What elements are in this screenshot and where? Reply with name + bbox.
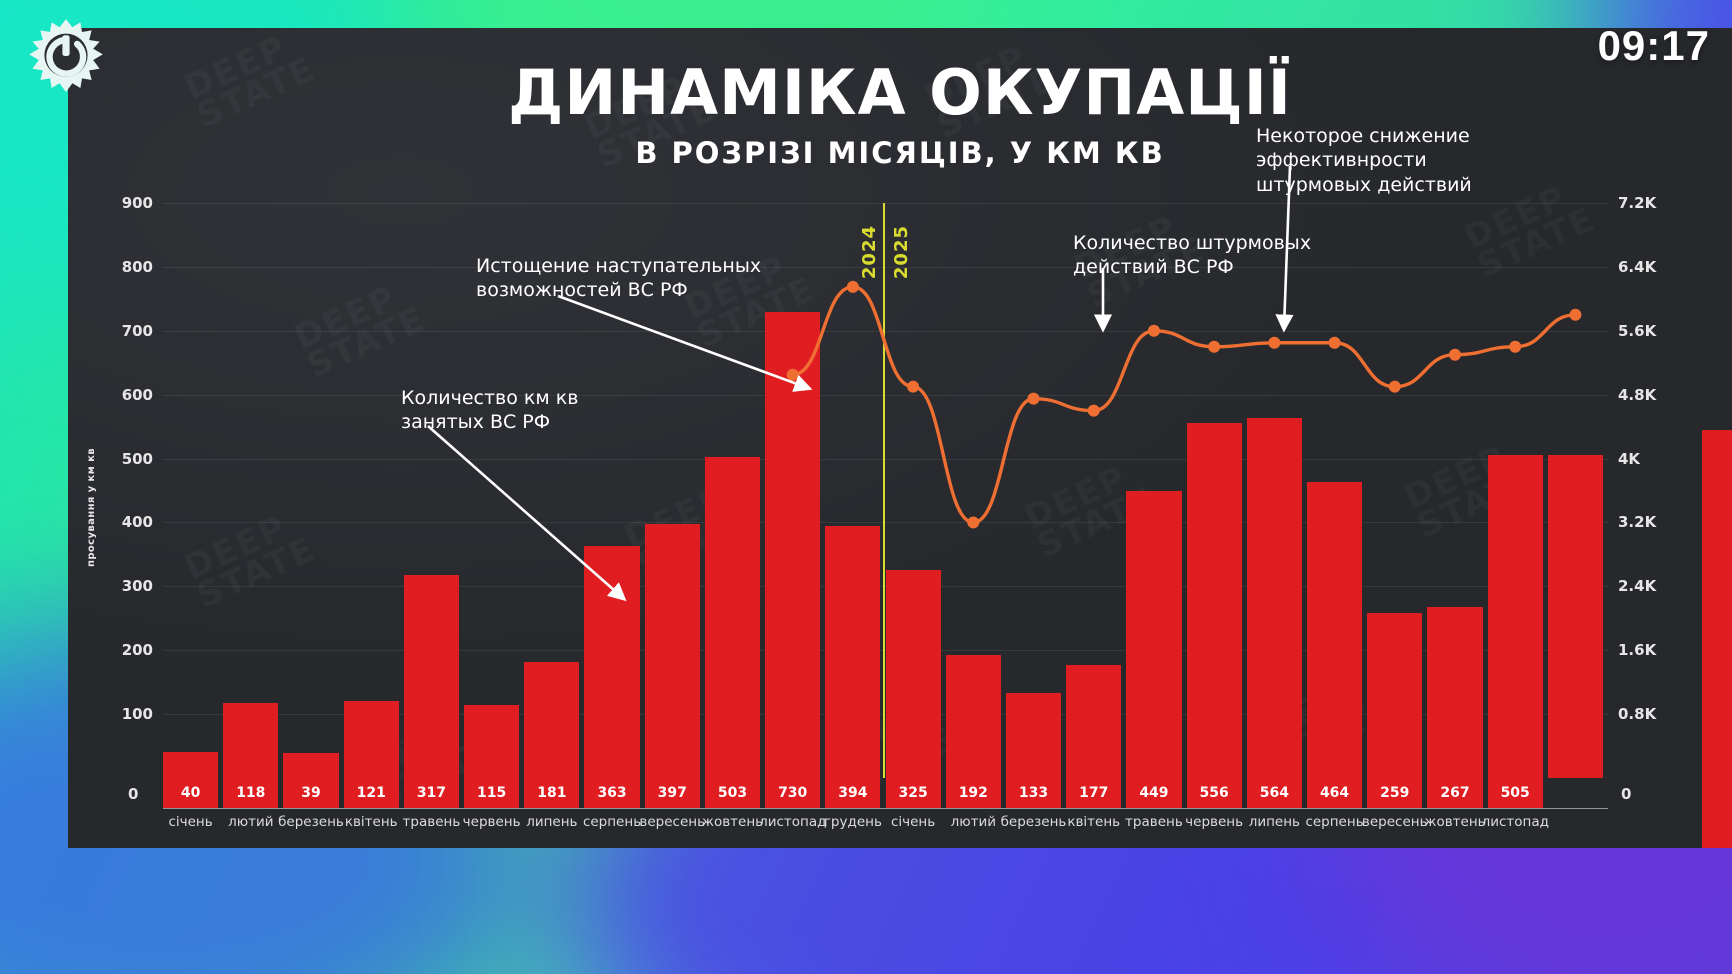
y-axis-tick-right: 6.4K	[1618, 258, 1656, 276]
bar-value-label: 133	[1006, 778, 1061, 808]
x-axis-label: жовтень	[1421, 814, 1488, 830]
x-axis-label: жовтень	[699, 814, 766, 830]
x-axis-label: червень	[1181, 814, 1248, 830]
bar-value-label: 317	[404, 778, 459, 808]
x-axis-label: вересень	[1361, 814, 1428, 830]
y-axis-tick-left: 800	[122, 258, 153, 276]
y-axis-tick-right: 1.6K	[1618, 641, 1656, 659]
x-axis-label: лютий	[940, 814, 1007, 830]
x-axis-label: квітень	[338, 814, 405, 830]
bar-value-label: 325	[886, 778, 941, 808]
x-axis-label: травень	[398, 814, 465, 830]
bar-value-label: 464	[1307, 778, 1362, 808]
bar-value-label: 181	[524, 778, 579, 808]
bar-value-label: 39	[283, 778, 338, 808]
y-axis-tick-right: 5.6K	[1618, 322, 1656, 340]
bar-value-label: 394	[825, 778, 880, 808]
line-data-point[interactable]	[1208, 341, 1220, 353]
line-data-point[interactable]	[967, 516, 979, 528]
annotation-assault-count: Количество штурмовых действий ВС РФ	[1073, 231, 1311, 280]
bar-value-label: 192	[946, 778, 1001, 808]
annotation-exhaustion: Истощение наступательных возможностей ВС…	[476, 254, 761, 303]
bar-value-label: 177	[1066, 778, 1121, 808]
y-axis-tick-left: 700	[122, 322, 153, 340]
bar-value-label: 556	[1187, 778, 1242, 808]
bar-value-label: 503	[705, 778, 760, 808]
y-axis-tick-zero-right: 0	[1621, 785, 1631, 803]
bar-value-label: 505	[1488, 778, 1543, 808]
x-axis-label: січень	[157, 814, 224, 830]
x-axis-label: січень	[880, 814, 947, 830]
power-gear-icon	[26, 16, 106, 96]
x-axis-label: вересень	[639, 814, 706, 830]
x-axis-label: листопад	[759, 814, 826, 830]
bar-value-label: 118	[223, 778, 278, 808]
y-axis-tick-right: 4.8K	[1618, 386, 1656, 404]
line-data-point[interactable]	[907, 381, 919, 393]
y-axis-tick-left: 500	[122, 450, 153, 468]
line-data-point[interactable]	[1148, 325, 1160, 337]
chart-canvas: DEEP STATE DEEP STATE DEEP STATE DEEP ST…	[68, 28, 1732, 848]
line-data-point[interactable]	[1028, 393, 1040, 405]
x-axis-label: березень	[1000, 814, 1067, 830]
line-data-point[interactable]	[1449, 349, 1461, 361]
x-axis-label: липень	[518, 814, 585, 830]
bar-value-label: 397	[645, 778, 700, 808]
y-axis-tick-right: 4K	[1618, 450, 1640, 468]
y-axis-tick-left: 100	[122, 705, 153, 723]
x-axis-label: червень	[458, 814, 525, 830]
chart-frame: DEEP STATE DEEP STATE DEEP STATE DEEP ST…	[68, 28, 1732, 848]
y-axis-tick-right: 2.4K	[1618, 577, 1656, 595]
line-data-point[interactable]	[1088, 405, 1100, 417]
y-axis-tick-right: 7.2K	[1618, 194, 1656, 212]
x-axis-label: лютий	[217, 814, 284, 830]
bar-value-label: 267	[1427, 778, 1482, 808]
bar-value-label: 115	[464, 778, 519, 808]
x-axis-label: липень	[1241, 814, 1308, 830]
bar-value-label: 564	[1247, 778, 1302, 808]
x-axis-label: березень	[277, 814, 344, 830]
annotation-km-occupied: Количество км кв занятых ВС РФ	[401, 386, 578, 435]
bar-value-label: 259	[1367, 778, 1422, 808]
annotation-efficiency-drop: Некоторое снижение эффективнрости штурмо…	[1256, 124, 1472, 197]
x-axis-label: листопад	[1482, 814, 1549, 830]
line-data-point[interactable]	[787, 369, 799, 381]
x-axis-label: травень	[1120, 814, 1187, 830]
page-subtitle: В РОЗРІЗІ МІСЯЦІВ, У КМ КВ	[68, 136, 1732, 170]
y-axis-label-left: просування у км кв	[86, 448, 97, 567]
bar-value-label: 449	[1126, 778, 1181, 808]
y-axis-tick-left: 300	[122, 577, 153, 595]
bar-value-label: 121	[344, 778, 399, 808]
line-path	[793, 287, 1576, 523]
clock: 09:17	[1598, 22, 1710, 70]
x-axis-label: квітень	[1060, 814, 1127, 830]
bar-value-label: 730	[765, 778, 820, 808]
y-axis-tick-right: 0.8K	[1618, 705, 1656, 723]
edge-red-bar	[1702, 430, 1732, 848]
y-axis-tick-right: 3.2K	[1618, 513, 1656, 531]
line-data-point[interactable]	[1569, 309, 1581, 321]
line-data-point[interactable]	[1389, 381, 1401, 393]
bar-value-label: 363	[584, 778, 639, 808]
screen: 09:17 DEEP STATE DEEP STATE DEEP STATE D…	[0, 0, 1732, 974]
y-axis-tick-left: 400	[122, 513, 153, 531]
x-axis-label: серпень	[578, 814, 645, 830]
plot-area: 1002003004005006007008009000.8K1.6K2.4K3…	[163, 203, 1608, 778]
x-axis-baseline	[163, 808, 1608, 809]
line-data-point[interactable]	[1509, 341, 1521, 353]
y-axis-tick-left: 600	[122, 386, 153, 404]
line-data-point[interactable]	[847, 281, 859, 293]
x-axis-label: грудень	[819, 814, 886, 830]
y-axis-tick-left: 900	[122, 194, 153, 212]
y-axis-tick-zero-left: 0	[128, 785, 138, 803]
line-data-point[interactable]	[1268, 337, 1280, 349]
line-series	[163, 203, 1608, 778]
line-data-point[interactable]	[1329, 337, 1341, 349]
x-axis-label: серпень	[1301, 814, 1368, 830]
bar-value-label: 40	[163, 778, 218, 808]
bar-value-labels: 4011839121317115181363397503730394325192…	[163, 778, 1608, 808]
x-axis-category-labels: січеньлютийберезеньквітеньтравеньчервень…	[163, 814, 1608, 842]
page-title: ДИНАМІКА ОКУПАЦІЇ	[68, 56, 1732, 129]
y-axis-tick-left: 200	[122, 641, 153, 659]
